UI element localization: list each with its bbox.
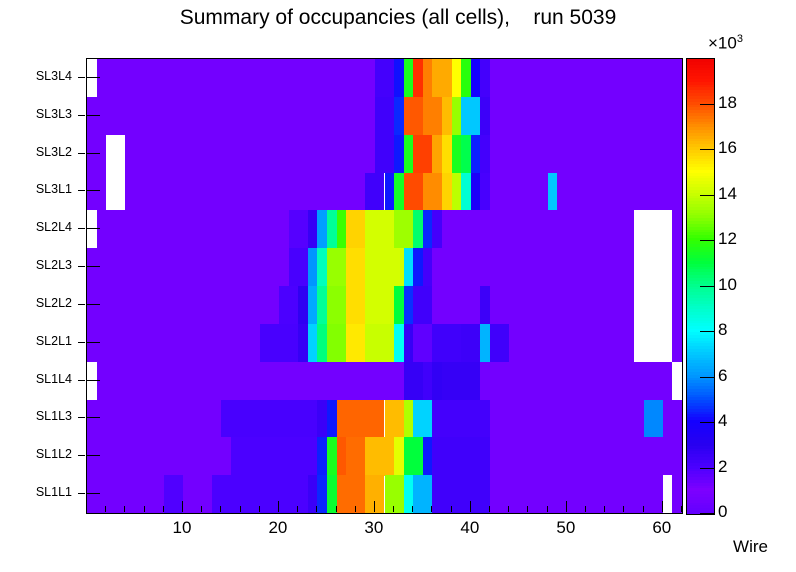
heatmap-cell xyxy=(106,173,125,211)
heatmap-cell xyxy=(413,210,423,248)
heatmap-cell xyxy=(404,286,414,324)
heatmap-cell xyxy=(452,135,462,173)
x-axis-minor-tick xyxy=(124,506,125,512)
y-axis-tick-outer xyxy=(78,115,85,116)
heatmap-cell xyxy=(317,286,327,324)
heatmap-cell xyxy=(231,437,317,475)
heatmap-cell xyxy=(289,210,308,248)
y-axis-tick xyxy=(86,153,100,154)
y-axis-tick-outer xyxy=(78,304,85,305)
heatmap-cell xyxy=(346,210,365,248)
y-axis-tick-outer xyxy=(78,77,85,78)
y-axis-tick xyxy=(86,266,100,267)
heatmap-cell xyxy=(327,324,346,362)
heatmap-cell xyxy=(413,324,432,362)
heatmap-cell xyxy=(404,437,423,475)
heatmap-cell xyxy=(404,135,414,173)
heatmap-cell xyxy=(298,286,308,324)
heatmap-cell xyxy=(394,173,404,211)
heatmap-cell xyxy=(308,286,318,324)
colorbar-tick xyxy=(700,331,714,332)
y-axis-tick xyxy=(86,342,100,343)
heatmap-cell xyxy=(317,475,327,513)
x-axis-minor-tick xyxy=(431,506,432,512)
x-axis-title: Wire xyxy=(733,537,768,557)
colorbar-tick-label: 8 xyxy=(718,320,727,340)
heatmap-cell xyxy=(442,135,452,173)
y-axis-tick-outer xyxy=(78,417,85,418)
heatmap-cell xyxy=(480,135,490,173)
y-axis-label-sl3l1: SL3L1 xyxy=(0,182,72,196)
heatmap-cell xyxy=(260,324,298,362)
chart-title: Summary of occupancies (all cells), run … xyxy=(0,6,796,30)
heatmap-cell xyxy=(385,475,404,513)
heatmap-cell xyxy=(394,210,413,248)
heatmap-cell xyxy=(663,475,673,513)
colorbar-tick xyxy=(700,286,714,287)
heatmap-cell xyxy=(365,324,394,362)
y-axis-label-sl1l4: SL1L4 xyxy=(0,372,72,386)
heatmap-cell xyxy=(432,286,480,324)
heatmap-cell xyxy=(125,135,375,173)
heatmap-cell xyxy=(327,400,337,438)
y-axis-label-sl2l1: SL2L1 xyxy=(0,334,72,348)
heatmap-cell xyxy=(490,173,548,211)
colorbar-tick xyxy=(700,513,714,514)
x-axis-minor-tick xyxy=(144,506,145,512)
colorbar-tick xyxy=(700,240,714,241)
heatmap-cell xyxy=(452,97,462,135)
heatmap-cell xyxy=(375,59,394,97)
heatmap-cell xyxy=(432,59,451,97)
heatmap-cell xyxy=(432,400,490,438)
y-axis-tick-outer xyxy=(78,342,85,343)
heatmap-cell xyxy=(442,97,452,135)
heatmap-cell xyxy=(452,59,462,97)
heatmap-cell xyxy=(404,59,414,97)
heatmap-cell xyxy=(461,135,471,173)
heatmap-cell xyxy=(394,286,404,324)
heatmap-cell xyxy=(413,286,432,324)
heatmap-cell xyxy=(87,97,375,135)
heatmap-cell xyxy=(423,248,433,286)
heatmap-cell xyxy=(394,59,404,97)
x-axis-minor-tick xyxy=(527,506,528,512)
colorbar-tick-label: 10 xyxy=(718,275,737,295)
heatmap-cell xyxy=(432,324,461,362)
heatmap-cell xyxy=(423,210,433,248)
y-axis-tick xyxy=(86,77,100,78)
colorbar-tick-label: 12 xyxy=(718,229,737,249)
heatmap-cell xyxy=(490,286,634,324)
heatmap-cell xyxy=(317,248,327,286)
heatmap-cell xyxy=(106,135,125,173)
heatmap-cell xyxy=(87,248,289,286)
heatmap-cell xyxy=(327,286,346,324)
heatmap-cell xyxy=(672,210,682,248)
y-axis-label-sl2l4: SL2L4 xyxy=(0,220,72,234)
heatmap-cell xyxy=(432,475,490,513)
x-axis-minor-tick xyxy=(643,506,644,512)
x-axis-minor-tick xyxy=(163,506,164,512)
heatmap-cell xyxy=(442,362,480,400)
heatmap-cell xyxy=(346,286,365,324)
heatmap-cell xyxy=(480,59,490,97)
x-axis-minor-tick xyxy=(604,506,605,512)
heatmap-cell xyxy=(442,173,452,211)
heatmap-cell xyxy=(356,400,385,438)
y-axis-tick-outer xyxy=(78,228,85,229)
x-axis-minor-tick xyxy=(585,506,586,512)
heatmap-cell xyxy=(461,173,471,211)
heatmap-cell xyxy=(442,210,634,248)
x-axis-major-tick xyxy=(374,501,375,512)
x-axis-minor-tick xyxy=(681,506,682,512)
y-axis-tick xyxy=(86,455,100,456)
heatmap-cell xyxy=(317,400,327,438)
heatmap-cell xyxy=(461,59,471,97)
heatmap-cell xyxy=(327,210,337,248)
heatmap-cell xyxy=(404,400,414,438)
heatmap-cell xyxy=(413,135,432,173)
colorbar-tick xyxy=(700,149,714,150)
heatmap-cell xyxy=(480,362,672,400)
heatmap-cell xyxy=(490,324,509,362)
heatmap-cell xyxy=(672,248,682,286)
heatmap-cell xyxy=(480,97,490,135)
x-axis-major-tick xyxy=(662,501,663,512)
x-axis-minor-tick xyxy=(240,506,241,512)
heatmap-cell xyxy=(365,173,384,211)
y-axis-label-sl2l2: SL2L2 xyxy=(0,296,72,310)
heatmap-cell xyxy=(87,210,97,248)
colorbar-exponent-label: ×103 xyxy=(708,33,743,54)
colorbar-tick-label: 14 xyxy=(718,184,737,204)
y-axis-label-sl1l3: SL1L3 xyxy=(0,409,72,423)
heatmap-grid xyxy=(87,59,682,513)
x-axis-minor-tick xyxy=(259,506,260,512)
heatmap-cell xyxy=(471,135,481,173)
heatmap-cell xyxy=(87,59,97,97)
heatmap-cell xyxy=(394,135,404,173)
heatmap-cell xyxy=(298,324,308,362)
heatmap-cell xyxy=(423,437,433,475)
y-axis-tick xyxy=(86,115,100,116)
heatmap-cell xyxy=(490,135,682,173)
heatmap-cell xyxy=(509,324,634,362)
heatmap-cell xyxy=(413,400,432,438)
x-axis-minor-tick xyxy=(201,506,202,512)
x-axis-minor-tick xyxy=(412,506,413,512)
colorbar-tick xyxy=(700,195,714,196)
heatmap-cell xyxy=(404,362,423,400)
heatmap-cell xyxy=(480,173,490,211)
heatmap-cell xyxy=(337,400,356,438)
x-axis-minor-tick xyxy=(86,506,87,512)
heatmap-cell xyxy=(432,210,442,248)
x-axis-minor-tick xyxy=(355,506,356,512)
x-axis-minor-tick xyxy=(105,506,106,512)
heatmap-cell xyxy=(490,437,682,475)
heatmap-cell xyxy=(672,324,682,362)
y-axis-label-sl3l3: SL3L3 xyxy=(0,107,72,121)
heatmap-cell xyxy=(279,286,298,324)
heatmap-cell xyxy=(346,248,365,286)
heatmap-cell xyxy=(404,248,414,286)
heatmap-cell xyxy=(164,475,183,513)
y-axis-label-sl2l3: SL2L3 xyxy=(0,258,72,272)
colorbar-tick xyxy=(700,468,714,469)
colorbar-tick-label: 18 xyxy=(718,93,737,113)
heatmap-cell xyxy=(404,173,423,211)
heatmap-cell xyxy=(404,97,423,135)
heatmap-cell xyxy=(385,173,395,211)
colorbar-tick-label: 4 xyxy=(718,411,727,431)
heatmap-cell xyxy=(385,400,404,438)
heatmap-cell xyxy=(337,437,347,475)
heatmap-cell xyxy=(308,210,318,248)
x-axis-minor-tick xyxy=(508,506,509,512)
heatmap-cell xyxy=(432,362,442,400)
heatmap-cell xyxy=(221,400,317,438)
heatmap-cell xyxy=(337,475,366,513)
heatmap-cell xyxy=(365,248,403,286)
y-axis-label-sl1l2: SL1L2 xyxy=(0,447,72,461)
heatmap-cell xyxy=(461,97,480,135)
heatmap-cell xyxy=(87,437,231,475)
colorbar-tick-label: 6 xyxy=(718,366,727,386)
heatmap-cell xyxy=(317,324,327,362)
heatmap-cell xyxy=(365,437,394,475)
x-axis-tick-label: 10 xyxy=(157,518,207,538)
y-axis-tick xyxy=(86,417,100,418)
colorbar-exponent-base: ×10 xyxy=(708,34,737,53)
x-axis-minor-tick xyxy=(297,506,298,512)
heatmap-cell xyxy=(317,437,327,475)
y-axis-tick xyxy=(86,380,100,381)
x-axis-minor-tick xyxy=(336,506,337,512)
y-axis-tick-outer xyxy=(78,380,85,381)
heatmap-cell xyxy=(97,210,289,248)
y-axis-tick xyxy=(86,304,100,305)
heatmap-cell xyxy=(87,324,260,362)
heatmap-cell xyxy=(423,362,433,400)
x-axis-major-tick xyxy=(278,501,279,512)
heatmap-cell xyxy=(490,97,682,135)
heatmap-cell xyxy=(432,437,490,475)
y-axis-tick-outer xyxy=(78,153,85,154)
heatmap-cell xyxy=(327,248,346,286)
x-axis-tick-label: 20 xyxy=(253,518,303,538)
x-axis-minor-tick xyxy=(451,506,452,512)
y-axis-tick xyxy=(86,228,100,229)
colorbar-exponent-power: 3 xyxy=(737,33,743,45)
x-axis-tick-label: 30 xyxy=(349,518,399,538)
heatmap-cell xyxy=(634,324,672,362)
colorbar-tick-label: 2 xyxy=(718,457,727,477)
heatmap-cell xyxy=(183,475,212,513)
heatmap-cell xyxy=(423,173,442,211)
heatmap-cell xyxy=(394,324,404,362)
heatmap-cell xyxy=(490,475,663,513)
heatmap-cell xyxy=(365,286,394,324)
x-axis-minor-tick xyxy=(316,506,317,512)
heatmap-cell xyxy=(644,400,663,438)
x-axis-major-tick xyxy=(182,501,183,512)
heatmap-cell xyxy=(365,210,394,248)
heatmap-cell xyxy=(432,248,634,286)
y-axis-tick-outer xyxy=(78,266,85,267)
heatmap-cell xyxy=(672,362,682,400)
heatmap-cell xyxy=(672,286,682,324)
heatmap-cell xyxy=(337,210,347,248)
heatmap-cell xyxy=(87,286,279,324)
heatmap-cell xyxy=(471,59,481,97)
heatmap-cell xyxy=(97,362,404,400)
heatmap-cell xyxy=(432,135,442,173)
heatmap-cell xyxy=(634,286,672,324)
heatmap-cell xyxy=(404,324,414,362)
y-axis-tick xyxy=(86,493,100,494)
heatmap-cell xyxy=(346,324,365,362)
heatmap-cell xyxy=(480,286,490,324)
x-axis-tick-label: 60 xyxy=(637,518,687,538)
heatmap-cell xyxy=(346,437,365,475)
heatmap-cell xyxy=(413,248,423,286)
colorbar-tick-label: 0 xyxy=(718,502,727,522)
heatmap-cell xyxy=(87,475,164,513)
heatmap-cell xyxy=(394,97,404,135)
plot-frame xyxy=(86,58,683,514)
x-axis-minor-tick xyxy=(393,506,394,512)
heatmap-cell xyxy=(490,400,644,438)
heatmap-cell xyxy=(452,173,462,211)
heatmap-cell xyxy=(87,173,106,211)
heatmap-cell xyxy=(471,173,481,211)
y-axis-tick-outer xyxy=(78,190,85,191)
x-axis-major-tick xyxy=(470,501,471,512)
heatmap-cell xyxy=(490,59,682,97)
heatmap-cell xyxy=(97,59,375,97)
x-axis-minor-tick xyxy=(547,506,548,512)
heatmap-cell xyxy=(663,400,682,438)
y-axis-label-sl3l4: SL3L4 xyxy=(0,69,72,83)
heatmap-cell xyxy=(548,173,558,211)
heatmap-cell xyxy=(423,97,442,135)
y-axis-tick-outer xyxy=(78,455,85,456)
heatmap-cell xyxy=(375,135,394,173)
x-axis-minor-tick xyxy=(220,506,221,512)
y-axis-label-sl1l1: SL1L1 xyxy=(0,485,72,499)
heatmap-cell xyxy=(375,97,394,135)
heatmap-cell xyxy=(634,248,672,286)
y-axis-tick xyxy=(86,190,100,191)
heatmap-cell xyxy=(413,59,423,97)
heatmap-cell xyxy=(394,437,404,475)
heatmap-cell xyxy=(289,248,308,286)
x-axis-major-tick xyxy=(566,501,567,512)
colorbar-tick-label: 16 xyxy=(718,138,737,158)
heatmap-cell xyxy=(634,210,672,248)
heatmap-cell xyxy=(308,248,318,286)
heatmap-cell xyxy=(480,324,490,362)
heatmap-cell xyxy=(413,475,432,513)
x-axis-tick-label: 50 xyxy=(541,518,591,538)
heatmap-cell xyxy=(327,437,337,475)
heatmap-cell xyxy=(125,173,365,211)
root-canvas: Summary of occupancies (all cells), run … xyxy=(0,0,796,572)
x-axis-tick-label: 40 xyxy=(445,518,495,538)
heatmap-cell xyxy=(557,173,682,211)
y-axis-label-sl3l2: SL3L2 xyxy=(0,145,72,159)
heatmap-cell xyxy=(317,210,327,248)
colorbar-tick xyxy=(700,377,714,378)
heatmap-cell xyxy=(87,400,221,438)
heatmap-cell xyxy=(308,324,318,362)
x-axis-minor-tick xyxy=(623,506,624,512)
heatmap-cell xyxy=(461,324,480,362)
colorbar-tick xyxy=(700,104,714,105)
colorbar-tick xyxy=(700,422,714,423)
y-axis-tick-outer xyxy=(78,493,85,494)
x-axis-minor-tick xyxy=(489,506,490,512)
